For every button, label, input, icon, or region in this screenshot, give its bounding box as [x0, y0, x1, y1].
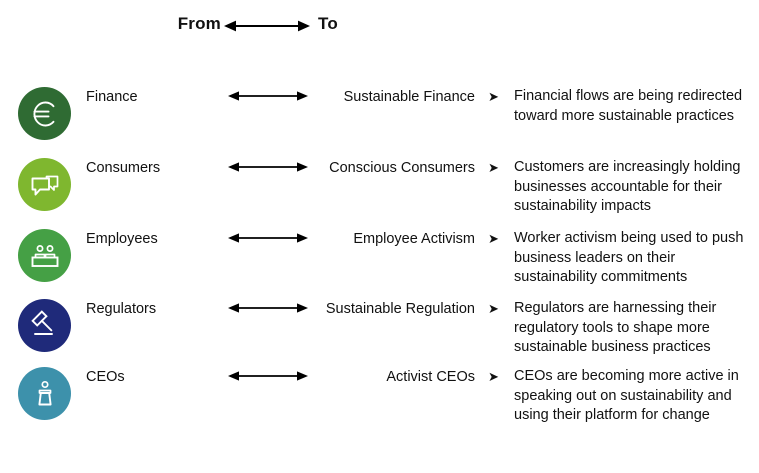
from-label: CEOs: [86, 368, 221, 387]
bullet-arrow-icon: ➤: [488, 87, 506, 106]
double-headed-arrow-icon: [228, 89, 308, 103]
double-headed-arrow-icon: [228, 160, 308, 174]
from-label: Employees: [86, 230, 221, 249]
to-label: Sustainable Finance: [300, 88, 475, 107]
employees-at-desk-icon: [18, 229, 71, 282]
description-text: Regulators are harnessing their regulato…: [514, 299, 754, 358]
bullet-arrow-icon: ➤: [488, 158, 506, 177]
speaker-at-podium-icon: [18, 367, 71, 420]
to-label: Sustainable Regulation: [300, 300, 475, 319]
to-label: Employee Activism: [300, 230, 475, 249]
to-label: Activist CEOs: [300, 368, 475, 387]
from-label: Regulators: [86, 300, 221, 319]
bullet-arrow-icon: ➤: [488, 229, 506, 248]
euro-currency-icon: [18, 87, 71, 140]
description-block: ➤ Worker activism being used to push bus…: [488, 229, 754, 288]
double-headed-arrow-icon: [228, 301, 308, 315]
description-text: CEOs are becoming more active in speakin…: [514, 367, 754, 426]
bullet-arrow-icon: ➤: [488, 367, 506, 386]
description-block: ➤ Regulators are harnessing their regula…: [488, 299, 754, 358]
description-text: Worker activism being used to push busin…: [514, 229, 754, 288]
double-headed-arrow-icon: [228, 231, 308, 245]
speech-bubbles-icon: [18, 158, 71, 211]
gavel-icon: [18, 299, 71, 352]
to-label: Conscious Consumers: [300, 159, 475, 178]
description-block: ➤ Customers are increasingly holding bus…: [488, 158, 754, 217]
bullet-arrow-icon: ➤: [488, 299, 506, 318]
description-block: ➤ CEOs are becoming more active in speak…: [488, 367, 754, 426]
from-label: Consumers: [86, 159, 221, 178]
header-from-label: From: [86, 14, 221, 34]
description-text: Customers are increasingly holding busin…: [514, 158, 754, 217]
description-text: Financial flows are being redirected tow…: [514, 87, 754, 126]
header-to-label: To: [318, 14, 338, 34]
description-block: ➤ Financial flows are being redirected t…: [488, 87, 754, 126]
column-header: From To: [0, 14, 759, 44]
double-headed-arrow-icon: [228, 369, 308, 383]
double-headed-arrow-icon: [224, 17, 310, 35]
from-label: Finance: [86, 88, 221, 107]
